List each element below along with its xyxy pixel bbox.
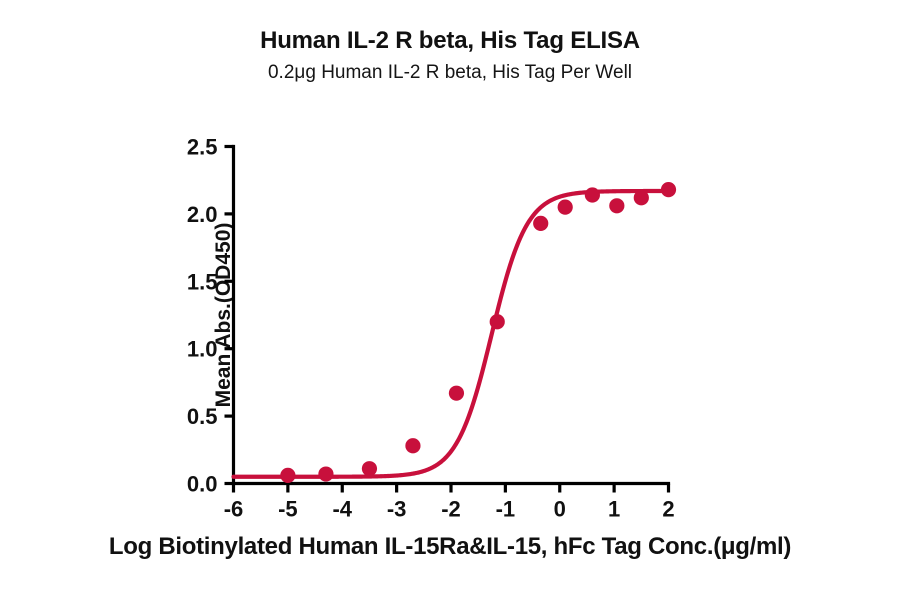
data-points-layer: [280, 182, 676, 483]
y-tick-label-2: 1.0: [187, 337, 218, 362]
data-point-0-5: [490, 314, 505, 329]
data-point-0-0: [280, 468, 295, 483]
x-tick-label-7: 1: [608, 497, 620, 522]
y-tick-label-4: 2.0: [187, 202, 218, 227]
x-tick-label-8: 2: [662, 497, 674, 522]
data-point-0-3: [405, 438, 420, 453]
chart-figure: Human IL-2 R beta, His Tag ELISA 0.2μg H…: [0, 0, 900, 594]
data-point-0-4: [449, 386, 464, 401]
x-tick-label-3: -3: [387, 497, 407, 522]
x-tick-label-5: -1: [496, 497, 516, 522]
data-point-0-1: [318, 466, 333, 481]
axis-spines: [234, 147, 669, 484]
x-tick-label-0: -6: [224, 497, 244, 522]
data-point-0-6: [533, 216, 548, 231]
data-point-0-7: [558, 200, 573, 215]
data-point-0-9: [609, 198, 624, 213]
data-point-0-11: [661, 182, 676, 197]
data-point-0-8: [585, 187, 600, 202]
x-tick-label-2: -4: [332, 497, 352, 522]
plot-area: -6-5-4-3-2-10120.00.51.01.52.02.5: [0, 0, 900, 594]
x-tick-label-4: -2: [441, 497, 461, 522]
y-tick-label-0: 0.0: [187, 472, 218, 497]
y-tick-label-5: 2.5: [187, 135, 218, 160]
y-tick-label-3: 1.5: [187, 269, 218, 294]
data-point-0-2: [362, 461, 377, 476]
y-tick-label-1: 0.5: [187, 404, 218, 429]
x-tick-label-6: 0: [554, 497, 566, 522]
x-tick-label-1: -5: [278, 497, 298, 522]
data-point-0-10: [634, 190, 649, 205]
fit-curve-layer: [234, 191, 669, 477]
fit-curve: [234, 191, 669, 477]
